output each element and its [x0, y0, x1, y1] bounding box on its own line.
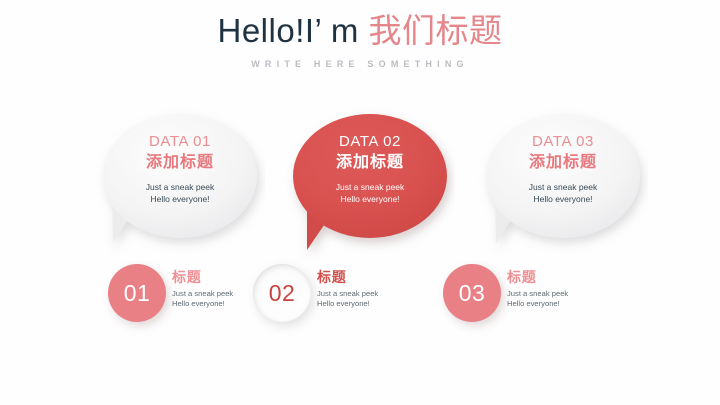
item-heading: 标题	[317, 268, 437, 286]
page-title-english: Hello!I’ m	[218, 12, 359, 49]
speech-bubble-text-block: DATA 02 添加标题 Just a sneak peek Hello eve…	[285, 132, 455, 205]
item-number-badge: 02	[253, 264, 311, 322]
bubble-heading: 添加标题	[285, 152, 455, 173]
item-body-line2: Hello everyone!	[317, 299, 437, 309]
item-text-block: 标题 Just a sneak peek Hello everyone!	[317, 268, 437, 310]
item-body-line2: Hello everyone!	[507, 299, 627, 309]
speech-bubble-data-03[interactable]: DATA 03 添加标题 Just a sneak peek Hello eve…	[478, 108, 648, 263]
bubble-body-line1: Just a sneak peek	[95, 182, 265, 194]
bubble-body-line2: Hello everyone!	[478, 194, 648, 206]
page-title: Hello!I’ m 我们标题	[0, 8, 720, 54]
item-number-badge: 01	[108, 264, 166, 322]
bubble-body-line1: Just a sneak peek	[478, 182, 648, 194]
item-body-line1: Just a sneak peek	[317, 289, 437, 299]
speech-bubble-text-block: DATA 01 添加标题 Just a sneak peek Hello eve…	[95, 132, 265, 205]
bubble-body-line1: Just a sneak peek	[285, 182, 455, 194]
bubble-heading: 添加标题	[95, 152, 265, 173]
page-title-chinese: 我们标题	[368, 12, 502, 49]
bubble-data-label: DATA 03	[478, 132, 648, 151]
speech-bubble-data-01[interactable]: DATA 01 添加标题 Just a sneak peek Hello eve…	[95, 108, 265, 263]
bubble-data-label: DATA 02	[285, 132, 455, 151]
speech-bubble-data-02[interactable]: DATA 02 添加标题 Just a sneak peek Hello eve…	[285, 108, 455, 263]
slide-header: Hello!I’ m 我们标题 WRITE HERE SOMETHING	[0, 8, 720, 69]
item-body-line1: Just a sneak peek	[507, 289, 627, 299]
item-body: Just a sneak peek Hello everyone!	[317, 289, 437, 310]
slide-canvas: Hello!I’ m 我们标题 WRITE HERE SOMETHING DA	[0, 0, 720, 405]
bubble-body-line2: Hello everyone!	[95, 194, 265, 206]
item-number-badge: 03	[443, 264, 501, 322]
bubble-body: Just a sneak peek Hello everyone!	[95, 182, 265, 205]
bubble-body: Just a sneak peek Hello everyone!	[285, 182, 455, 205]
bubble-body-line2: Hello everyone!	[285, 194, 455, 206]
item-heading: 标题	[507, 268, 627, 286]
bubble-data-label: DATA 01	[95, 132, 265, 151]
speech-bubble-text-block: DATA 03 添加标题 Just a sneak peek Hello eve…	[478, 132, 648, 205]
page-subtitle: WRITE HERE SOMETHING	[0, 59, 720, 69]
item-body: Just a sneak peek Hello everyone!	[507, 289, 627, 310]
bubble-body: Just a sneak peek Hello everyone!	[478, 182, 648, 205]
item-text-block: 标题 Just a sneak peek Hello everyone!	[507, 268, 627, 310]
bubble-heading: 添加标题	[478, 152, 648, 173]
